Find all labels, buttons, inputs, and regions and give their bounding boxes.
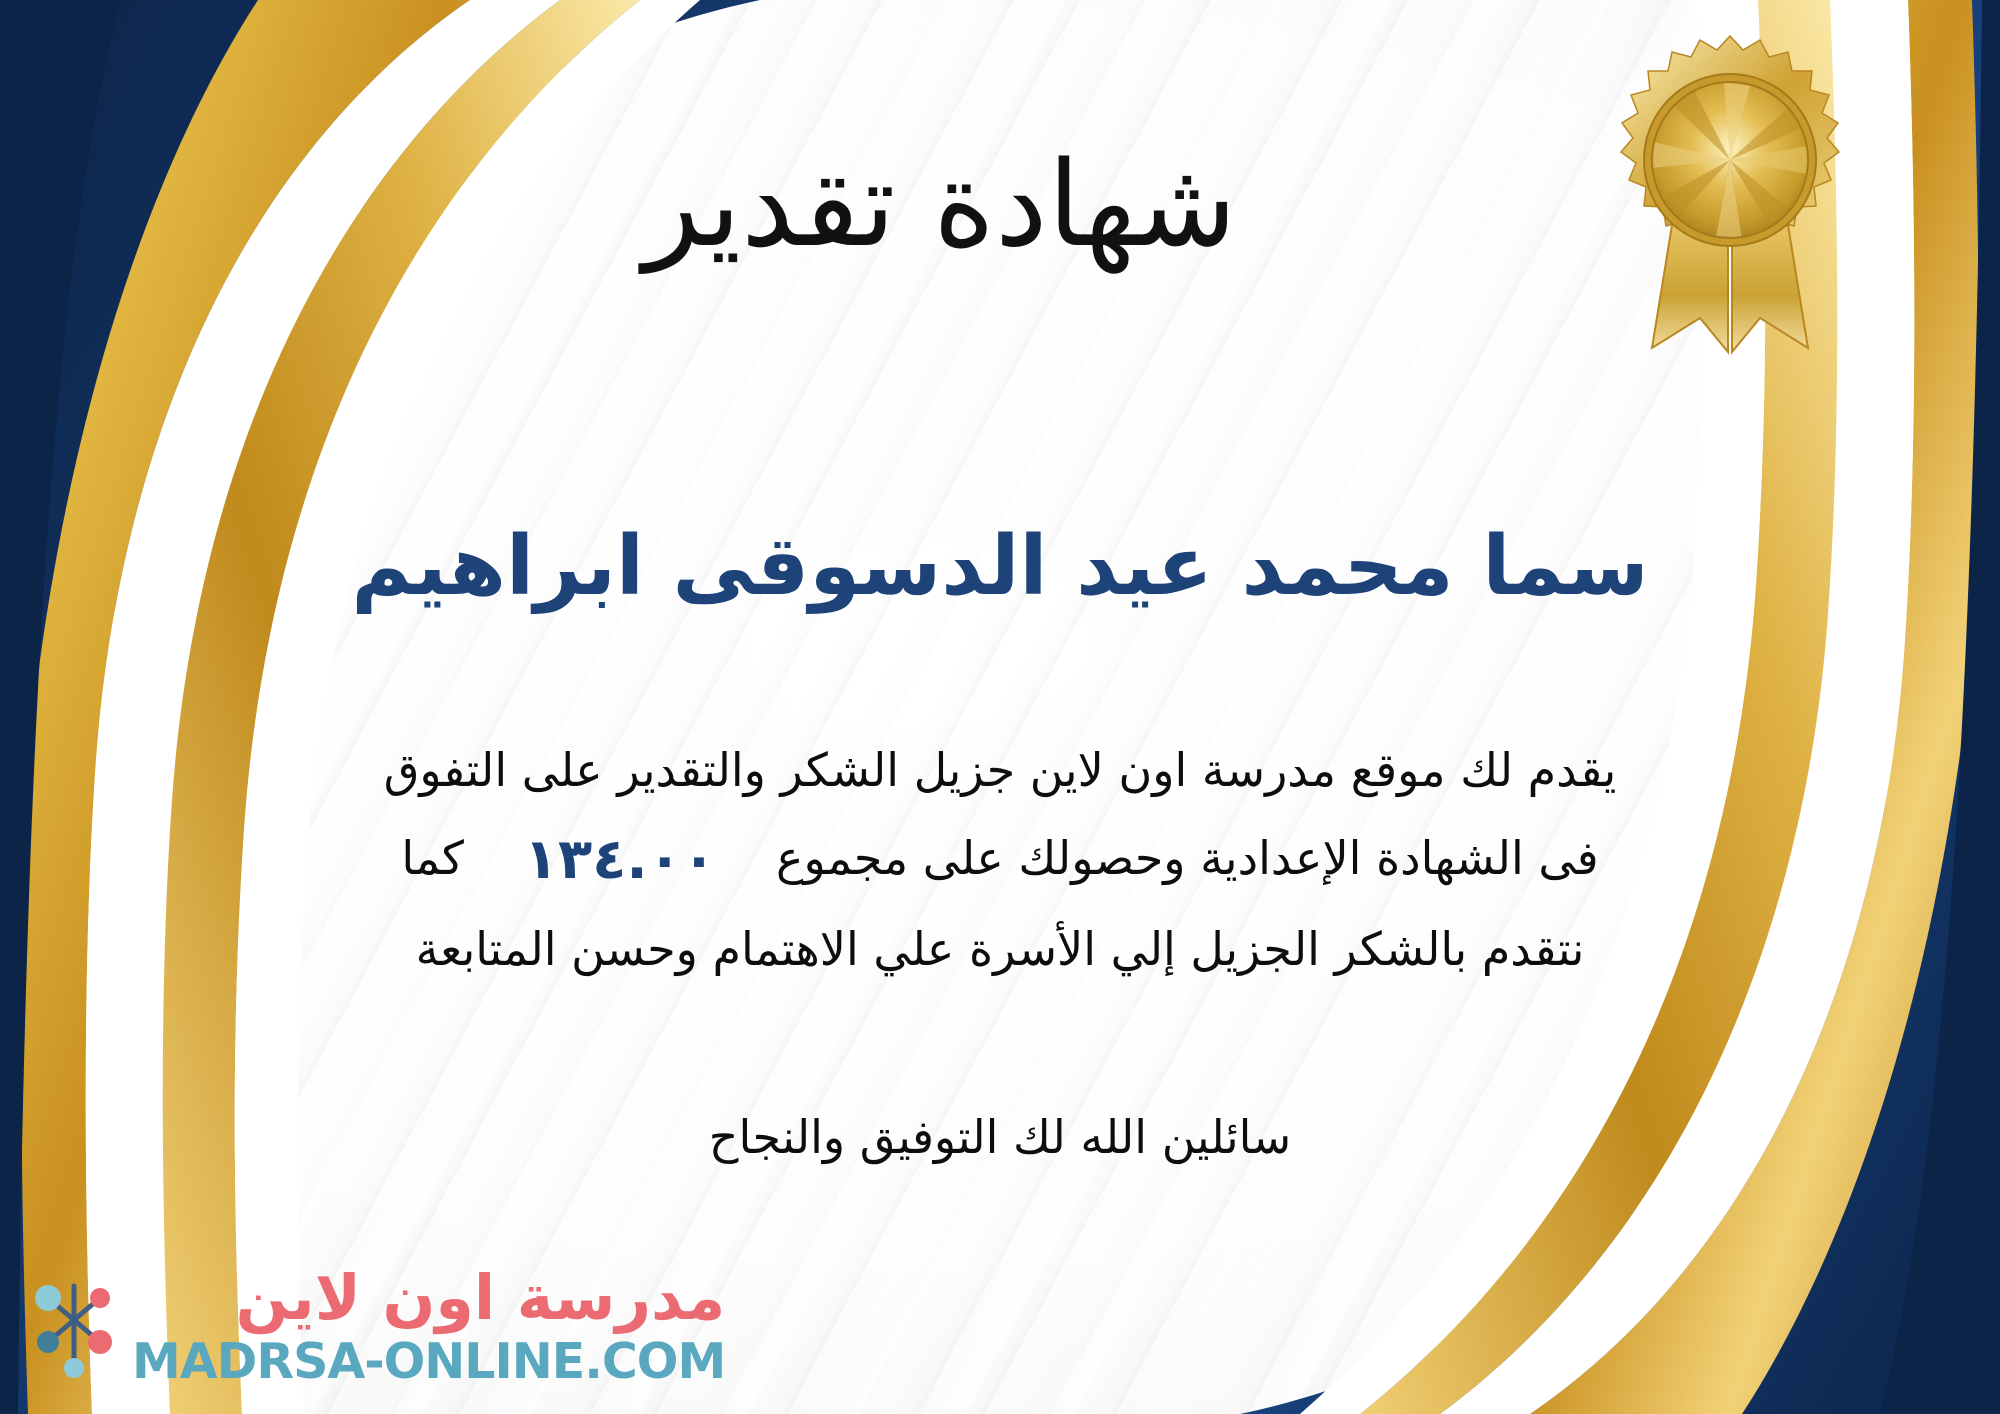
certificate-body: يقدم لك موقع مدرسة اون لاين جزيل الشكر و…: [60, 730, 1940, 989]
body-line-3: نتقدم بالشكر الجزيل إلي الأسرة علي الاهت…: [60, 909, 1940, 990]
brand-logo-text: مدرسة اون لاين MADRSA-ONLINE.COM: [132, 1267, 725, 1386]
body-line-2: فى الشهادة الإعدادية وحصولك على مجموع١٣٤…: [60, 811, 1940, 909]
student-name: سما محمد عيد الدسوقى ابراهيم: [0, 520, 2000, 614]
network-nodes-icon: [26, 1272, 122, 1382]
page-title: شهادة تقدير: [0, 140, 2000, 270]
brand-website-url: MADRSA-ONLINE.COM: [132, 1337, 725, 1386]
body-line-1: يقدم لك موقع مدرسة اون لاين جزيل الشكر و…: [60, 730, 1940, 811]
total-score-value: ١٣٤.٠٠: [464, 811, 776, 909]
brand-arabic-name: مدرسة اون لاين: [236, 1267, 726, 1329]
body-line-2-prefix: فى الشهادة الإعدادية وحصولك على مجموع: [776, 831, 1599, 885]
closing-wish: سائلين الله لك التوفيق والنجاح: [0, 1110, 2000, 1164]
body-line-2-suffix: كما: [401, 831, 464, 885]
certificate-content: شهادة تقدير سما محمد عيد الدسوقى ابراهيم…: [0, 0, 2000, 1414]
brand-logo[interactable]: مدرسة اون لاين MADRSA-ONLINE.COM: [26, 1267, 725, 1386]
certificate-canvas: شهادة تقدير سما محمد عيد الدسوقى ابراهيم…: [0, 0, 2000, 1414]
